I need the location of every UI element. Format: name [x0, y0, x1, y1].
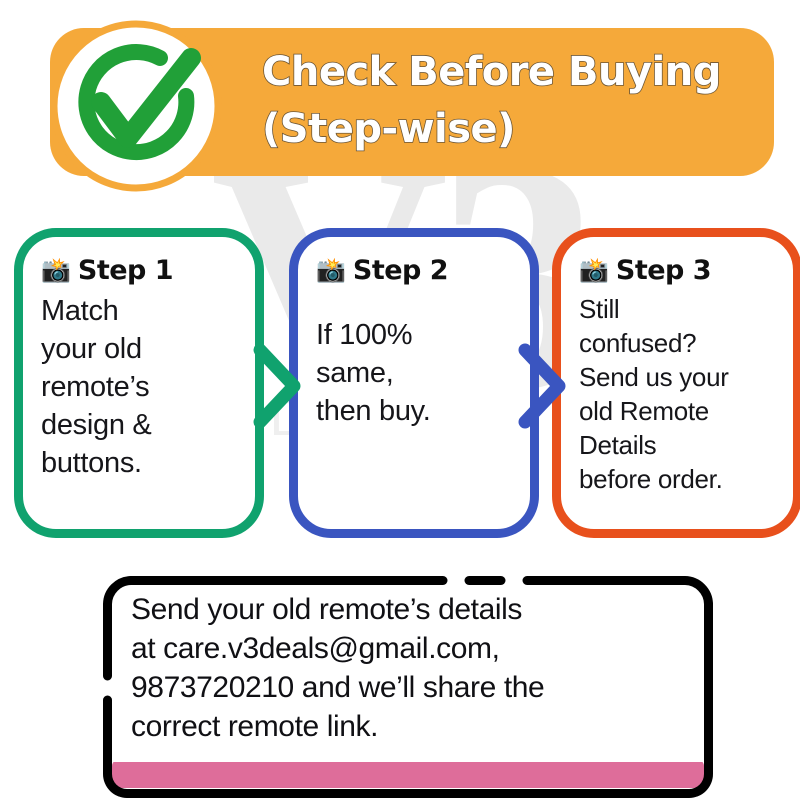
step-1-header: 📸 Step 1	[41, 255, 239, 286]
step-1-body: Match your old remote’s design & buttons…	[41, 292, 239, 482]
header-title: Check Before Buying (Step-wise)	[262, 44, 762, 158]
step-card-1: 📸 Step 1 Match your old remote’s design …	[14, 228, 264, 538]
chevron-right-green-arrow	[248, 336, 308, 436]
step-1-title: Step 1	[78, 255, 173, 286]
step-2-title: Step 2	[353, 255, 448, 286]
camera-with-flash-icon: 📸	[579, 259, 609, 283]
step-2-body: If 100% same, then buy.	[316, 316, 514, 430]
green-check-circle-icon	[48, 18, 224, 194]
chevron-right-blue-arrow	[513, 336, 573, 436]
step-card-2: 📸 Step 2 If 100% same, then buy.	[289, 228, 539, 538]
step-2-header: 📸 Step 2	[316, 255, 514, 286]
check-badge	[48, 18, 224, 194]
step-card-3: 📸 Step 3 Still confused? Send us your ol…	[552, 228, 800, 538]
chevron-right-icon	[248, 336, 308, 436]
footer-accent-frame	[103, 752, 713, 798]
camera-with-flash-icon: 📸	[41, 259, 71, 283]
step-3-title: Step 3	[616, 255, 711, 286]
header-title-line-2: (Step-wise)	[262, 101, 762, 158]
footer-note-text: Send your old remote’s details at care.v…	[131, 590, 701, 746]
camera-with-flash-icon: 📸	[316, 259, 346, 283]
step-3-body: Still confused? Send us your old Remote …	[579, 292, 777, 496]
footer-note-box: Send your old remote’s details at care.v…	[103, 576, 713, 762]
step-3-header: 📸 Step 3	[579, 255, 777, 286]
chevron-right-icon	[513, 336, 573, 436]
header-title-line-1: Check Before Buying	[262, 44, 762, 101]
